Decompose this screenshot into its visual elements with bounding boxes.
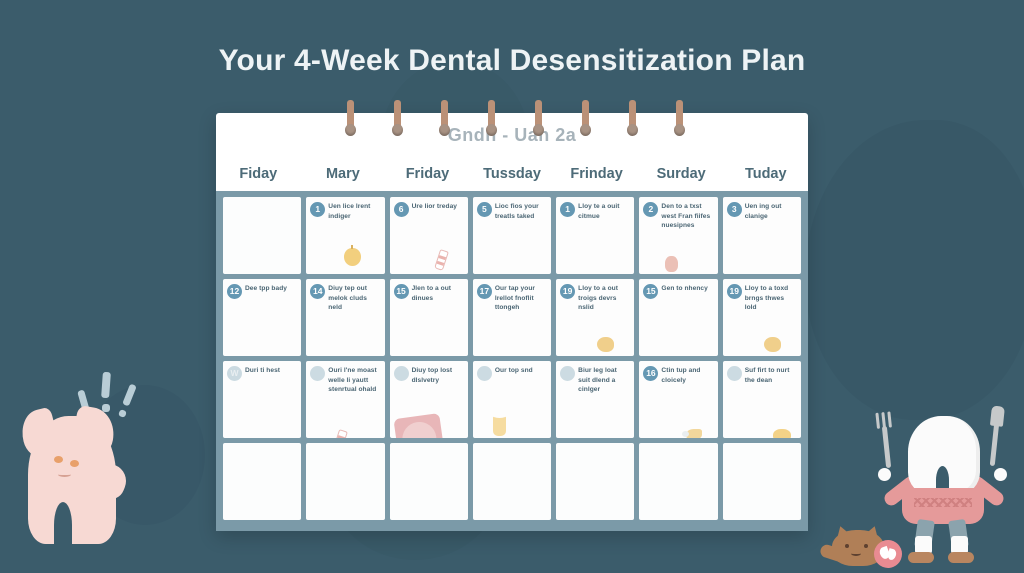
ring-clip: [392, 124, 403, 136]
day-number-badge: 1: [310, 202, 325, 217]
cell-task-text: Lloy to a toxd brngs thwes lold: [745, 284, 795, 313]
cat-eye-left: [845, 544, 849, 548]
cat-eye-right: [864, 544, 868, 548]
tooth-shoe-right: [948, 552, 974, 563]
pink-ball-icon: [874, 540, 902, 568]
calendar-cell[interactable]: Suf firt to nurt the dean: [723, 361, 801, 438]
calendar-day-header-row: FidayMaryFridayTussdayFrindaySurdayTuday: [216, 157, 808, 191]
cell-task-text: Dee tpp bady: [245, 284, 295, 294]
day-number-badge: [477, 366, 492, 381]
calendar-cell[interactable]: 12Dee tpp bady: [223, 279, 301, 356]
calendar-cell[interactable]: 3Uen ing out clanige: [723, 197, 801, 274]
day-number-badge: 15: [394, 284, 409, 299]
day-number-badge: 19: [727, 284, 742, 299]
tooth-cuff-left: [878, 468, 891, 481]
day-number-badge: 17: [477, 284, 492, 299]
cell-task-text: Ctin tup and cloicely: [661, 366, 711, 385]
calendar-panel: Gndn - Uah 2a FidayMaryFridayTussdayFrin…: [216, 113, 808, 531]
background-blob-right: [805, 120, 1024, 420]
tooth-eye-left: [54, 456, 63, 463]
calendar-cell[interactable]: Biur leg loat suit dlend a cinlger: [556, 361, 634, 438]
calendar-cell[interactable]: Our top snd: [473, 361, 551, 438]
day-header-5: Surday: [639, 166, 724, 182]
calendar-grid: 1Uen lice lrent indiger6Ure lior treday5…: [223, 197, 801, 520]
calendar-cell[interactable]: 2Den to a txst west Fran fiifes nuesipne…: [639, 197, 717, 274]
cat-character: [826, 518, 906, 573]
ring-clip: [674, 124, 685, 136]
cell-task-text: Suf firt to nurt the dean: [745, 366, 795, 385]
cell-task-text: Our top snd: [495, 366, 545, 376]
calendar-cell[interactable]: 17Our tap your lrellot fnoflit ttongeh: [473, 279, 551, 356]
potato-icon: [597, 337, 614, 352]
day-number-badge: 3: [727, 202, 742, 217]
day-number-badge: [394, 366, 409, 381]
cookie-icon: [773, 429, 791, 438]
heart-box-icon: [393, 413, 444, 438]
binder-ring-0: [345, 100, 356, 138]
day-number-badge: 6: [394, 202, 409, 217]
calendar-cell[interactable]: 5Lioc fios your treatls taked: [473, 197, 551, 274]
ring-clip: [486, 124, 497, 136]
day-header-1: Mary: [301, 166, 386, 182]
day-header-0: Fiday: [216, 166, 301, 182]
tooth-shoe-left: [908, 552, 934, 563]
cell-task-text: Ouri l'ne moast welle li yautt stenrtual…: [328, 366, 378, 395]
cat-mouth: [851, 551, 861, 556]
apple-icon: [344, 248, 361, 266]
calendar-cell[interactable]: 1Lloy te a ouit citmue: [556, 197, 634, 274]
calendar-cell[interactable]: 15Gen to nhency: [639, 279, 717, 356]
toothpaste-icon: [333, 429, 348, 438]
day-header-6: Tuday: [723, 166, 808, 182]
ring-clip: [627, 124, 638, 136]
potato-icon: [764, 337, 781, 352]
hand-icon: [665, 256, 678, 272]
binder-ring-1: [392, 100, 403, 138]
calendar-cell[interactable]: 19Lloy to a toxd brngs thwes lold: [723, 279, 801, 356]
calendar-cell[interactable]: [223, 443, 301, 520]
day-number-badge: 16: [643, 366, 658, 381]
tooth-cuff-right: [994, 468, 1007, 481]
day-number-badge: 12: [227, 284, 242, 299]
binder-ring-7: [674, 100, 685, 138]
cell-task-text: Den to a txst west Fran fiifes nuesipnes: [661, 202, 711, 231]
cell-task-text: Lloy to a out troigs devrs nslid: [578, 284, 628, 313]
page-title: Your 4-Week Dental Desensitization Plan: [0, 44, 1024, 78]
calendar-cell[interactable]: Ouri l'ne moast welle li yautt stenrtual…: [306, 361, 384, 438]
calendar-cell[interactable]: 19Lloy to a out troigs devrs nslid: [556, 279, 634, 356]
calendar-cell[interactable]: 14Diuy tep out melok cluds neld: [306, 279, 384, 356]
cell-task-text: Biur leg loat suit dlend a cinlger: [578, 366, 628, 395]
exclamation-dot-icon: [118, 409, 127, 418]
binder-ring-5: [580, 100, 591, 138]
calendar-cell[interactable]: [473, 443, 551, 520]
calendar-cell[interactable]: 15Jlen to a out dinues: [390, 279, 468, 356]
day-number-badge: 14: [310, 284, 325, 299]
cup-icon: [493, 416, 506, 436]
toothpaste-icon: [434, 249, 449, 271]
binder-ring-4: [533, 100, 544, 138]
calendar-cell[interactable]: WDuri ti hest: [223, 361, 301, 438]
calendar-month-label: Gndn - Uah 2a: [216, 125, 808, 146]
binder-ring-6: [627, 100, 638, 138]
calendar-cell[interactable]: 6Ure lior treday: [390, 197, 468, 274]
exclamation-mark-icon: [101, 372, 111, 398]
cell-task-text: Gen to nhency: [661, 284, 711, 294]
binder-ring-2: [439, 100, 450, 138]
cell-task-text: Ure lior treday: [412, 202, 462, 212]
calendar-cell[interactable]: [390, 443, 468, 520]
cell-task-text: Diuy top lost dlslvetry: [412, 366, 462, 385]
worried-tooth-character: [18, 398, 138, 563]
binder-ring-3: [486, 100, 497, 138]
day-number-badge: [310, 366, 325, 381]
calendar-grid-wrapper: 1Uen lice lrent indiger6Ure lior treday5…: [216, 191, 808, 531]
day-header-2: Friday: [385, 166, 470, 182]
day-number-badge: 1: [560, 202, 575, 217]
ring-clip: [533, 124, 544, 136]
day-number-badge: W: [227, 366, 242, 381]
knife-icon: [990, 422, 1000, 466]
day-number-badge: [560, 366, 575, 381]
calendar-cell[interactable]: [223, 197, 301, 274]
ring-clip: [345, 124, 356, 136]
cell-task-text: Our tap your lrellot fnoflit ttongeh: [495, 284, 545, 313]
cell-task-text: Uen ing out clanige: [745, 202, 795, 221]
cell-task-text: Lioc fios your treatls taked: [495, 202, 545, 221]
day-header-4: Frinday: [554, 166, 639, 182]
cell-task-text: Diuy tep out melok cluds neld: [328, 284, 378, 313]
day-header-3: Tussday: [470, 166, 555, 182]
day-number-badge: 2: [643, 202, 658, 217]
calendar-cell[interactable]: [556, 443, 634, 520]
cell-task-text: Jlen to a out dinues: [412, 284, 462, 303]
calendar-cell[interactable]: [723, 443, 801, 520]
calendar-cell[interactable]: 1Uen lice lrent indiger: [306, 197, 384, 274]
calendar-cell[interactable]: [639, 443, 717, 520]
ring-clip: [580, 124, 591, 136]
calendar-cell[interactable]: 16Ctin tup and cloicely: [639, 361, 717, 438]
tooth-mouth: [58, 472, 71, 477]
calendar-header: Gndn - Uah 2a FidayMaryFridayTussdayFrin…: [216, 113, 808, 191]
day-number-badge: 5: [477, 202, 492, 217]
fork-icon: [882, 426, 891, 468]
tooth-leg-gap: [54, 502, 72, 548]
cell-task-text: Duri ti hest: [245, 366, 295, 376]
cell-task-text: Lloy te a ouit citmue: [578, 202, 628, 221]
tooth-eye-right: [70, 460, 79, 467]
cell-task-text: Uen lice lrent indiger: [328, 202, 378, 221]
calendar-cell[interactable]: [306, 443, 384, 520]
day-number-badge: 19: [560, 284, 575, 299]
day-number-badge: 15: [643, 284, 658, 299]
calendar-cell[interactable]: Diuy top lost dlslvetry: [390, 361, 468, 438]
ring-clip: [439, 124, 450, 136]
day-number-badge: [727, 366, 742, 381]
sweater-stitch-pattern: [914, 498, 972, 507]
floss-icon: [686, 429, 702, 438]
